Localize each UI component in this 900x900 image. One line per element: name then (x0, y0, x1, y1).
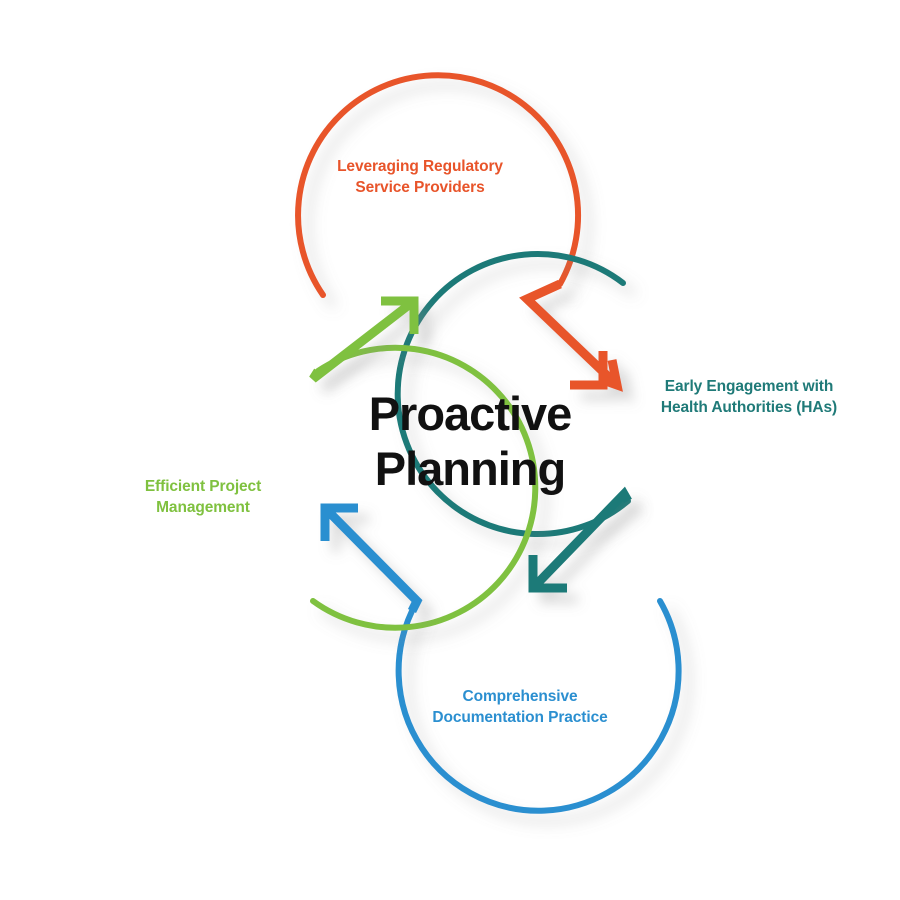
node-arc-right-teal[interactable] (398, 254, 628, 534)
node-arc-top-orange[interactable] (298, 75, 578, 295)
node-arc-left-green[interactable] (313, 348, 535, 628)
diagram-canvas: Leveraging Regulatory Service Providers … (0, 0, 900, 900)
cycle-diagram-svg (0, 0, 900, 900)
arrow-right-to-bottom[interactable] (533, 494, 628, 588)
node-arc-bottom-blue[interactable] (399, 601, 679, 811)
arrow-top-to-right[interactable] (527, 284, 617, 385)
arrow-bottom-to-left[interactable] (325, 508, 417, 611)
